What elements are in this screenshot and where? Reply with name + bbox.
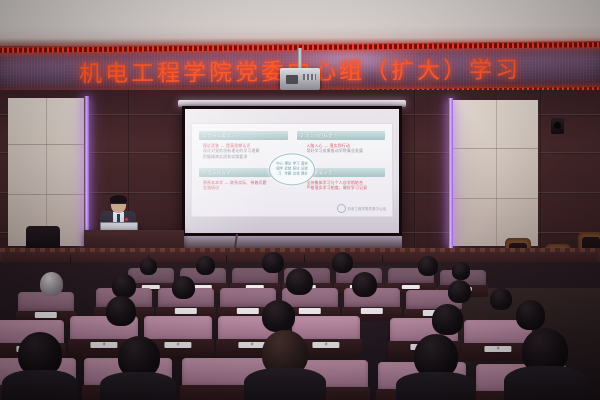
led-trim-left xyxy=(84,96,89,248)
audience-head xyxy=(352,272,377,297)
audience-shoulders xyxy=(2,370,78,400)
audience-head xyxy=(332,252,353,273)
projection-screen: 1.为什么要学习？ 理论武装 — 提高思想认识 深化对党的创新理论的学习理解 把… xyxy=(185,109,399,233)
audience-shoulders xyxy=(396,372,476,400)
projector-icon xyxy=(280,68,320,90)
audience-head xyxy=(516,300,545,330)
slide-logo-text: 机电工程学院党委中心组 xyxy=(348,206,386,211)
projector-mount-arm xyxy=(298,48,302,70)
audience-head xyxy=(448,280,471,303)
audience-head xyxy=(172,276,195,299)
audience-shoulders xyxy=(244,368,326,400)
audience-head xyxy=(112,274,136,298)
audience-head xyxy=(106,296,136,326)
quadrant-2-header-text: 2.学习的目标是了？ xyxy=(301,133,343,139)
audience-shoulders xyxy=(504,366,588,400)
quadrant-3-header-text: 3.怎么样去学习？ xyxy=(203,170,240,176)
quadrant-3-line-2: 交流研讨 xyxy=(203,185,285,190)
seat-number-tag: 排 xyxy=(164,342,191,348)
seat-number-tag xyxy=(361,308,383,313)
audience-head xyxy=(490,288,512,310)
seat-number-tag: 排 xyxy=(312,342,339,348)
audience-head xyxy=(452,262,470,280)
quadrant-1-body: 理论武装 — 提高思想认识 深化对党的创新理论的学习理解 把握精神实质和实践要求 xyxy=(199,140,288,159)
quadrant-1-header-text: 1.为什么要学习？ xyxy=(203,133,240,139)
audience-head xyxy=(286,268,313,295)
quadrant-4-line-2: 严格落实学习制度，做好学习记录 xyxy=(307,185,383,190)
quadrant-1-header: 1.为什么要学习？ xyxy=(199,131,288,140)
slide-logo: 机电工程学院党委中心组 xyxy=(337,204,386,213)
presentation-slide: 1.为什么要学习？ 理论武装 — 提高思想认识 深化对党的创新理论的学习理解 把… xyxy=(191,123,393,217)
center-circle-column-2: 理论 武装 专题 xyxy=(284,163,291,176)
center-circle-column-3: 学习 研讨 交流 xyxy=(293,163,300,176)
lapel-badge-icon xyxy=(125,218,128,221)
audience-head xyxy=(432,304,463,335)
seat-number-tag: 排 xyxy=(484,346,511,352)
seat-number-tag: 排 xyxy=(238,342,265,348)
center-circle-column-4: 落实 见效 提升 xyxy=(301,163,308,176)
led-trim-right xyxy=(448,98,453,248)
acoustic-panel-left xyxy=(8,98,84,246)
glasses-icon xyxy=(111,203,126,207)
seat-number-tag xyxy=(175,308,197,313)
audience-shoulders xyxy=(100,372,176,400)
quadrant-2-header: 2.学习的目标是了？ xyxy=(297,131,386,140)
quadrant-2-line-2: 用好学习成果推动学院事业发展 xyxy=(307,148,383,153)
slide-quadrant-2: 2.学习的目标是了？ 入脑入心 — 落实到行动 用好学习成果推动学院事业发展 xyxy=(297,131,386,163)
wall-speaker-icon xyxy=(551,118,564,134)
acoustic-panel-right xyxy=(452,100,538,246)
slide-center-circle: 中心 组学 习 理论 武装 专题 学习 研讨 交流 xyxy=(269,153,315,185)
projection-screen-frame: 1.为什么要学习？ 理论武装 — 提高思想认识 深化对党的创新理论的学习理解 把… xyxy=(182,106,402,236)
audience-head xyxy=(262,252,284,273)
seat-number-tag: 排 xyxy=(90,342,117,348)
audience-head xyxy=(40,272,63,296)
seat-number-tag xyxy=(299,308,321,313)
auditorium-photo: 机电工程学院党委中心组（扩大）学习 xyxy=(0,0,600,400)
quadrant-2-body: 入脑入心 — 落实到行动 用好学习成果推动学院事业发展 xyxy=(297,140,386,154)
seat-number-tag xyxy=(35,312,57,317)
seat-number-tag xyxy=(237,308,259,313)
university-emblem-icon xyxy=(337,204,346,213)
quadrant-1-line-3: 把握精神实质和实践要求 xyxy=(203,154,285,159)
audience-head xyxy=(140,258,157,275)
audience-head xyxy=(418,256,438,276)
audience-head xyxy=(196,256,215,275)
audience-head xyxy=(262,300,295,332)
center-circle-column-1: 中心 组学 习 xyxy=(276,163,283,176)
